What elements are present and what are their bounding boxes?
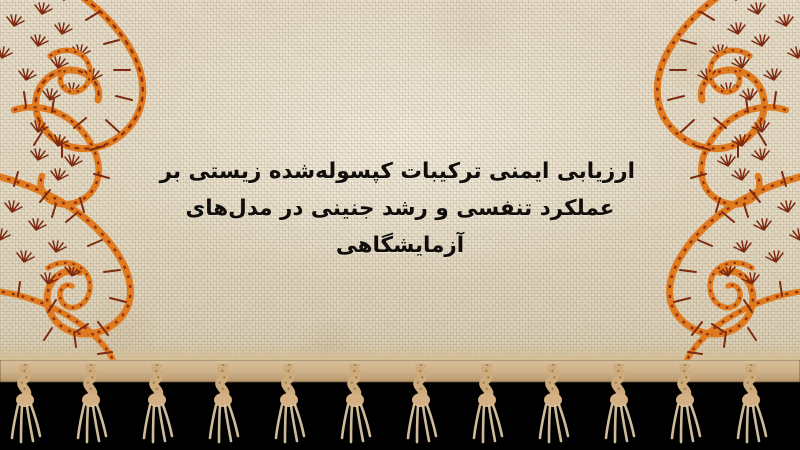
title-line-3: آزمایشگاهی <box>165 227 635 264</box>
title-line-2: عملکرد تنفسی و رشد جنینی در مدل‌های <box>165 190 635 227</box>
tassel <box>534 364 574 450</box>
tassel <box>270 364 310 450</box>
tassel <box>204 364 244 450</box>
tassel <box>138 364 178 450</box>
title-card: ارزیابی ایمنی ترکیبات کپسوله‌شده زیستی ب… <box>0 0 800 450</box>
page-title: ارزیابی ایمنی ترکیبات کپسوله‌شده زیستی ب… <box>165 153 635 264</box>
tassel <box>732 364 772 450</box>
tassel <box>600 364 640 450</box>
tassel <box>402 364 442 450</box>
tassel <box>666 364 706 450</box>
title-block: ارزیابی ایمنی ترکیبات کپسوله‌شده زیستی ب… <box>0 0 800 372</box>
title-line-1: ارزیابی ایمنی ترکیبات کپسوله‌شده زیستی ب… <box>165 153 635 190</box>
tassel-fringe <box>0 360 800 450</box>
tassel <box>6 364 46 450</box>
tassel <box>468 364 508 450</box>
tassel <box>72 364 112 450</box>
tassel <box>336 364 376 450</box>
